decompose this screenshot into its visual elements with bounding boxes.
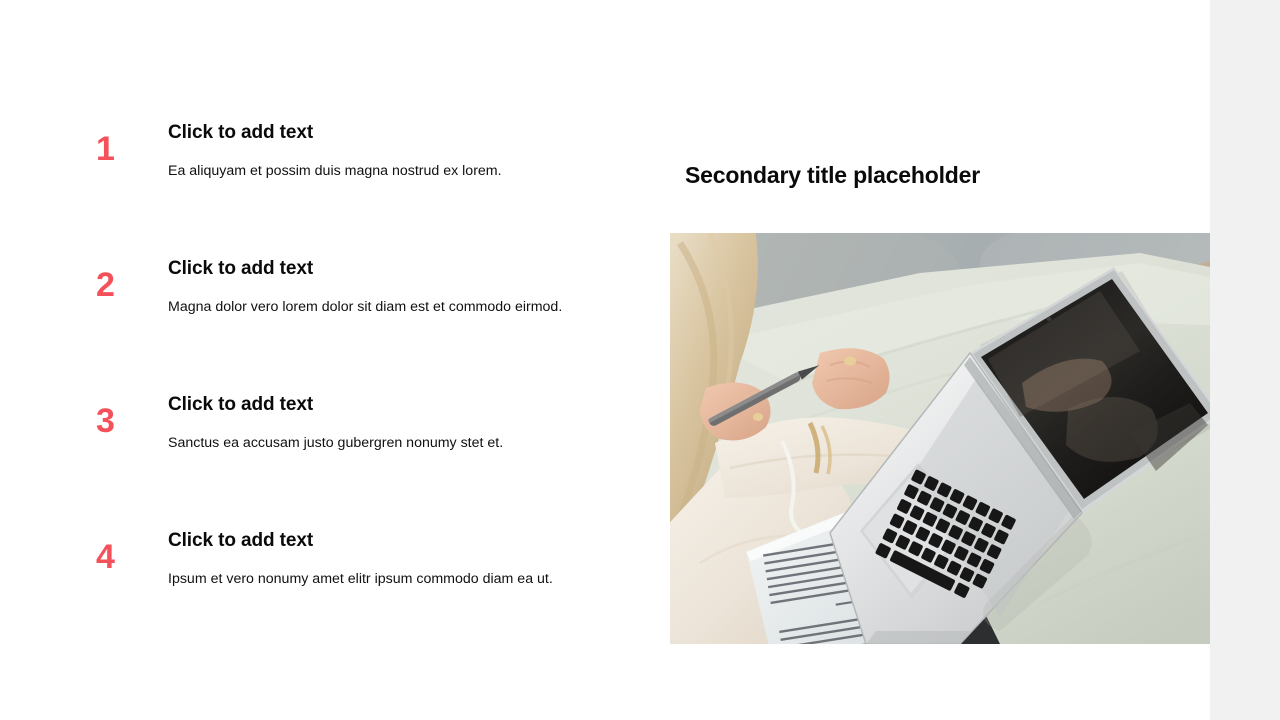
list-item[interactable]: 4 Click to add text Ipsum et vero nonumy… [96, 530, 636, 589]
list-item-description[interactable]: Ipsum et vero nonumy amet elitr ipsum co… [168, 570, 636, 589]
numbered-list: 1 Click to add text Ea aliquyam et possi… [0, 0, 640, 720]
list-item-number: 2 [96, 258, 168, 302]
slide-canvas: 1 Click to add text Ea aliquyam et possi… [0, 0, 1280, 720]
list-item-body: Click to add text Magna dolor vero lorem… [168, 258, 636, 317]
list-item-number: 3 [96, 394, 168, 438]
woman-working-on-laptop-photo[interactable] [670, 233, 1210, 644]
list-item-title[interactable]: Click to add text [168, 394, 636, 417]
list-item-body: Click to add text Sanctus ea accusam jus… [168, 394, 636, 453]
list-item[interactable]: 1 Click to add text Ea aliquyam et possi… [96, 122, 636, 181]
list-item[interactable]: 2 Click to add text Magna dolor vero lor… [96, 258, 636, 317]
list-item-number: 4 [96, 530, 168, 574]
list-item-title[interactable]: Click to add text [168, 530, 636, 553]
list-item[interactable]: 3 Click to add text Sanctus ea accusam j… [96, 394, 636, 453]
photo-artwork [670, 233, 1210, 644]
slide-surface: 1 Click to add text Ea aliquyam et possi… [0, 0, 1210, 720]
list-item-body: Click to add text Ipsum et vero nonumy a… [168, 530, 636, 589]
list-item-title[interactable]: Click to add text [168, 122, 636, 145]
secondary-title[interactable]: Secondary title placeholder [685, 162, 980, 190]
list-item-description[interactable]: Ea aliquyam et possim duis magna nostrud… [168, 162, 636, 181]
list-item-body: Click to add text Ea aliquyam et possim … [168, 122, 636, 181]
list-item-number: 1 [96, 122, 168, 166]
list-item-description[interactable]: Sanctus ea accusam justo gubergren nonum… [168, 434, 636, 453]
list-item-description[interactable]: Magna dolor vero lorem dolor sit diam es… [168, 298, 636, 317]
list-item-title[interactable]: Click to add text [168, 258, 636, 281]
right-column: Secondary title placeholder [670, 0, 1210, 720]
